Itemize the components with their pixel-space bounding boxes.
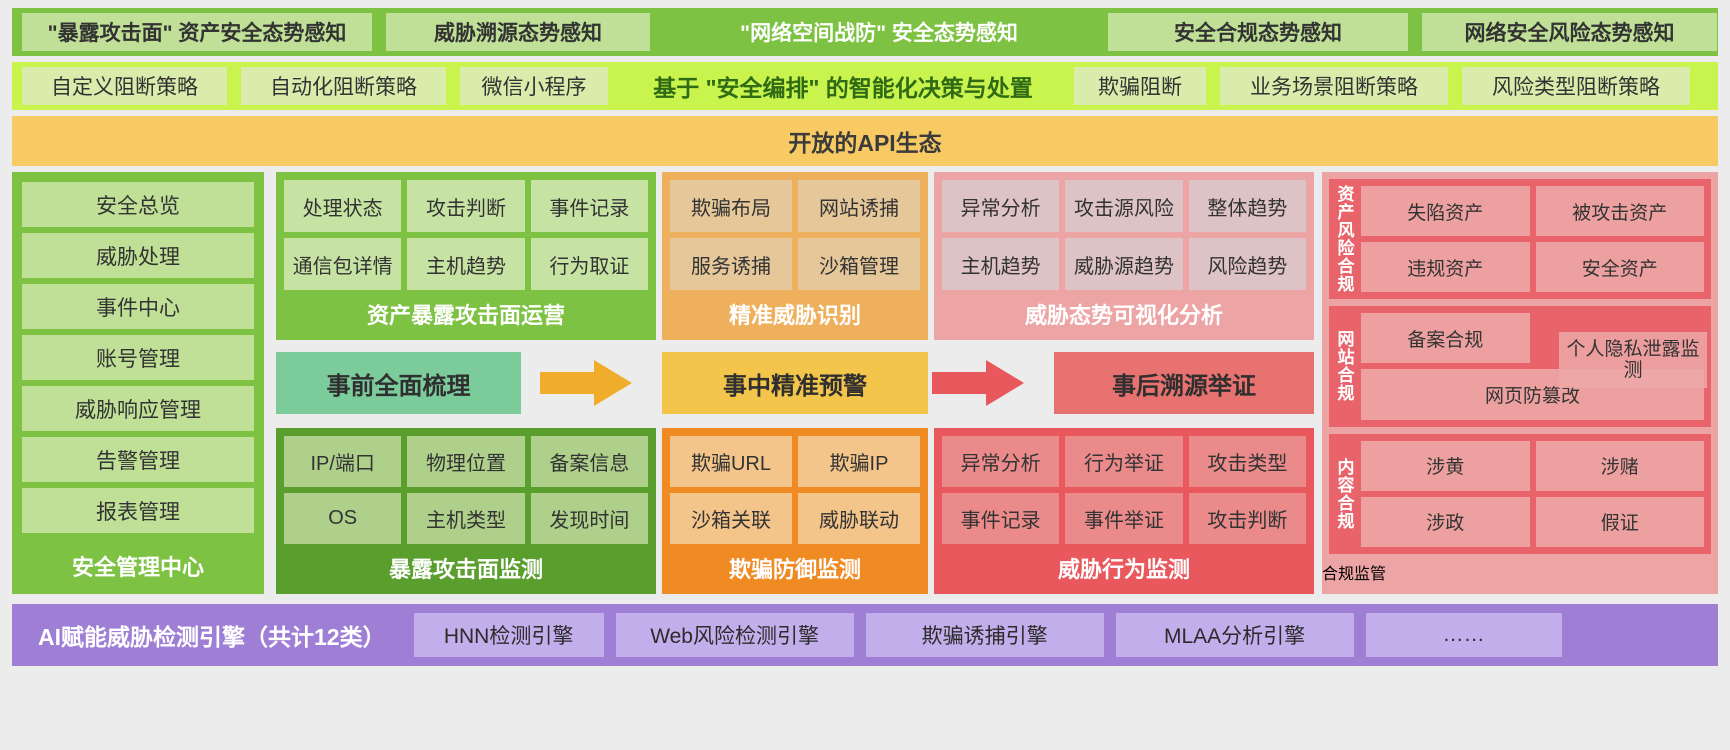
- threat-behavior-cell-4[interactable]: 事件举证: [1065, 493, 1182, 544]
- website-compliance-group: 网站合规 备案合规 网页防篡改 个人隐私泄露监测: [1329, 306, 1711, 426]
- sidebar-item-1-label: 威胁处理: [96, 241, 180, 271]
- sidebar-item-0-label: 安全总览: [96, 190, 180, 220]
- threat-behavior-cell-0[interactable]: 异常分析: [942, 436, 1059, 487]
- asset-risk-cell-1[interactable]: 被攻击资产: [1536, 186, 1705, 236]
- row2-item-5[interactable]: 业务场景阻断策略: [1220, 67, 1448, 105]
- stage-after-box: 事后溯源举证: [1054, 352, 1314, 414]
- exposure-monitor-cell-4[interactable]: 主机类型: [407, 493, 524, 544]
- asset-risk-compliance-grid: 失陷资产 被攻击资产 违规资产 安全资产: [1359, 179, 1711, 299]
- row1-item-4[interactable]: 网络安全风险态势感知: [1422, 13, 1717, 51]
- threat-viz-cell-3[interactable]: 主机趋势: [942, 238, 1059, 290]
- precise-threat-cell-2[interactable]: 服务诱捕: [670, 238, 792, 290]
- precise-threat-identification-panel: 欺骗布局 网站诱捕 服务诱捕 沙箱管理 精准威胁识别: [662, 172, 928, 340]
- precise-threat-cell-1[interactable]: 网站诱捕: [798, 180, 920, 232]
- threat-behavior-cell-3[interactable]: 事件记录: [942, 493, 1059, 544]
- asset-exposure-ops-panel: 处理状态 攻击判断 事件记录 通信包详情 主机趋势 行为取证 资产暴露攻击面运营: [276, 172, 656, 340]
- stage-before-label: 事前全面梳理: [327, 366, 471, 401]
- sidebar-item-2-label: 事件中心: [96, 292, 180, 322]
- threat-viz-grid: 异常分析 攻击源风险 整体趋势 主机趋势 威胁源趋势 风险趋势: [934, 172, 1314, 298]
- threat-behavior-cell-1[interactable]: 行为举证: [1065, 436, 1182, 487]
- engine-chip-hnn[interactable]: HNN检测引擎: [414, 613, 604, 657]
- row1-item-3-label: 安全合规态势感知: [1174, 17, 1342, 47]
- stage-during-box: 事中精准预警: [662, 352, 928, 414]
- engine-chip-more[interactable]: ……: [1366, 613, 1562, 657]
- row1-item-1-label: 威胁溯源态势感知: [434, 17, 602, 47]
- asset-exposure-cell-5[interactable]: 行为取证: [531, 238, 648, 290]
- content-compliance-cell-1[interactable]: 涉赌: [1536, 441, 1705, 491]
- sidebar-item-report-management[interactable]: 报表管理: [22, 488, 254, 533]
- row1-item-1[interactable]: 威胁溯源态势感知: [386, 13, 650, 51]
- website-compliance-cell-privacy-leak[interactable]: 个人隐私泄露监测: [1559, 332, 1707, 388]
- asset-exposure-cell-0[interactable]: 处理状态: [284, 180, 401, 232]
- content-compliance-cell-3[interactable]: 假证: [1536, 497, 1705, 547]
- arrow-right-icon-2: [932, 360, 1024, 406]
- row2-item-6[interactable]: 风险类型阻断策略: [1462, 67, 1690, 105]
- threat-behavior-monitoring-title: 威胁行为监测: [934, 552, 1314, 594]
- sidebar-item-event-center[interactable]: 事件中心: [22, 284, 254, 329]
- website-compliance-side-label: 网站合规: [1329, 306, 1359, 426]
- asset-risk-compliance-side-label: 资产风险合规: [1329, 179, 1359, 299]
- compliance-supervision-title: 合规监管: [1322, 554, 1718, 594]
- row2-item-5-label: 业务场景阻断策略: [1250, 71, 1418, 101]
- stage-during-label: 事中精准预警: [723, 366, 867, 401]
- asset-exposure-cell-4[interactable]: 主机趋势: [407, 238, 524, 290]
- deception-monitor-cell-3[interactable]: 威胁联动: [798, 493, 920, 544]
- open-api-ecosystem-banner: 开放的API生态: [12, 116, 1718, 166]
- sidebar-item-6-label: 报表管理: [96, 496, 180, 526]
- sidebar-panel-title: 安全管理中心: [22, 550, 254, 594]
- row2-item-6-label: 风险类型阻断策略: [1492, 71, 1660, 101]
- threat-behavior-monitoring-panel: 异常分析 行为举证 攻击类型 事件记录 事件举证 攻击判断 威胁行为监测: [934, 428, 1314, 594]
- threat-viz-cell-2[interactable]: 整体趋势: [1189, 180, 1306, 232]
- deception-defense-monitoring-title: 欺骗防御监测: [662, 552, 928, 594]
- sidebar-item-4-label: 威胁响应管理: [75, 394, 201, 424]
- row1-item-0-label: "暴露攻击面" 资产安全态势感知: [48, 17, 347, 47]
- row1-item-0[interactable]: "暴露攻击面" 资产安全态势感知: [22, 13, 372, 51]
- content-compliance-grid: 涉黄 涉赌 涉政 假证: [1359, 434, 1711, 554]
- sidebar-item-security-overview[interactable]: 安全总览: [22, 182, 254, 227]
- content-compliance-group: 内容合规 涉黄 涉赌 涉政 假证: [1329, 434, 1711, 554]
- asset-risk-compliance-group: 资产风险合规 失陷资产 被攻击资产 违规资产 安全资产: [1329, 179, 1711, 299]
- asset-risk-cell-3[interactable]: 安全资产: [1536, 242, 1705, 292]
- open-api-ecosystem-label: 开放的API生态: [788, 124, 941, 158]
- row2-item-3-orchestration: 基于 "安全编排" 的智能化决策与处置: [618, 67, 1068, 105]
- threat-behavior-grid: 异常分析 行为举证 攻击类型 事件记录 事件举证 攻击判断: [934, 428, 1314, 552]
- exposure-monitor-cell-1[interactable]: 物理位置: [407, 436, 524, 487]
- content-compliance-cell-2[interactable]: 涉政: [1361, 497, 1530, 547]
- engine-chip-mlaa[interactable]: MLAA分析引擎: [1116, 613, 1354, 657]
- deception-defense-monitoring-panel: 欺骗URL 欺骗IP 沙箱关联 威胁联动 欺骗防御监测: [662, 428, 928, 594]
- content-compliance-side-label: 内容合规: [1329, 434, 1359, 554]
- row2-item-4[interactable]: 欺骗阻断: [1074, 67, 1206, 105]
- row1-item-2[interactable]: "网络空间战防" 安全态势感知: [664, 13, 1094, 51]
- row2-item-0[interactable]: 自定义阻断策略: [22, 67, 227, 105]
- threat-visualization-analysis-panel: 异常分析 攻击源风险 整体趋势 主机趋势 威胁源趋势 风险趋势 威胁态势可视化分…: [934, 172, 1314, 340]
- arrow-right-icon-1: [540, 360, 632, 406]
- security-management-center-panel: 安全总览 威胁处理 事件中心 账号管理 威胁响应管理 告警管理 报表管理 安全管…: [12, 172, 264, 594]
- row2-item-4-label: 欺骗阻断: [1098, 71, 1182, 101]
- asset-risk-cell-0[interactable]: 失陷资产: [1361, 186, 1530, 236]
- sidebar-item-threat-response-management[interactable]: 威胁响应管理: [22, 386, 254, 431]
- threat-viz-cell-1[interactable]: 攻击源风险: [1065, 180, 1182, 232]
- sidebar-item-account-management[interactable]: 账号管理: [22, 335, 254, 380]
- sidebar-item-threat-handling[interactable]: 威胁处理: [22, 233, 254, 278]
- architecture-diagram: "暴露攻击面" 资产安全态势感知 威胁溯源态势感知 "网络空间战防" 安全态势感…: [0, 0, 1730, 750]
- exposure-surface-monitoring-panel: IP/端口 物理位置 备案信息 OS 主机类型 发现时间 暴露攻击面监测: [276, 428, 656, 594]
- stage-after-label: 事后溯源举证: [1112, 366, 1256, 401]
- deception-monitor-cell-2[interactable]: 沙箱关联: [670, 493, 792, 544]
- precise-threat-grid: 欺骗布局 网站诱捕 服务诱捕 沙箱管理: [662, 172, 928, 298]
- row1-item-3[interactable]: 安全合规态势感知: [1108, 13, 1408, 51]
- threat-viz-cell-4[interactable]: 威胁源趋势: [1065, 238, 1182, 290]
- website-compliance-cell-filing[interactable]: 备案合规: [1361, 313, 1530, 363]
- ai-engine-footer-title: AI赋能威胁检测引擎（共计12类）: [22, 618, 402, 652]
- precise-threat-cell-0[interactable]: 欺骗布局: [670, 180, 792, 232]
- row2-item-1-label: 自动化阻断策略: [270, 71, 417, 101]
- threat-behavior-cell-5[interactable]: 攻击判断: [1189, 493, 1306, 544]
- asset-exposure-cell-2[interactable]: 事件记录: [531, 180, 648, 232]
- threat-viz-cell-0[interactable]: 异常分析: [942, 180, 1059, 232]
- asset-risk-cell-2[interactable]: 违规资产: [1361, 242, 1530, 292]
- engine-chip-deception[interactable]: 欺骗诱捕引擎: [866, 613, 1104, 657]
- exposure-monitor-cell-2[interactable]: 备案信息: [531, 436, 648, 487]
- stage-before-box: 事前全面梳理: [276, 352, 521, 414]
- exposure-monitor-cell-0[interactable]: IP/端口: [284, 436, 401, 487]
- row1-item-4-label: 网络安全风险态势感知: [1465, 17, 1675, 47]
- row2-item-2[interactable]: 微信小程序: [460, 67, 608, 105]
- situational-awareness-row: "暴露攻击面" 资产安全态势感知 威胁溯源态势感知 "网络空间战防" 安全态势感…: [12, 8, 1718, 56]
- precise-threat-identification-title: 精准威胁识别: [662, 298, 928, 340]
- sidebar-item-3-label: 账号管理: [96, 343, 180, 373]
- exposure-monitor-grid: IP/端口 物理位置 备案信息 OS 主机类型 发现时间: [276, 428, 656, 552]
- exposure-surface-monitoring-title: 暴露攻击面监测: [276, 552, 656, 594]
- threat-viz-cell-5[interactable]: 风险趋势: [1189, 238, 1306, 290]
- exposure-monitor-cell-3[interactable]: OS: [284, 493, 401, 544]
- content-compliance-cell-0[interactable]: 涉黄: [1361, 441, 1530, 491]
- row2-item-0-label: 自定义阻断策略: [51, 71, 198, 101]
- blocking-policy-row: 自定义阻断策略 自动化阻断策略 微信小程序 基于 "安全编排" 的智能化决策与处…: [12, 62, 1718, 110]
- engine-chip-web-risk[interactable]: Web风险检测引擎: [616, 613, 854, 657]
- sidebar-item-alarm-management[interactable]: 告警管理: [22, 437, 254, 482]
- threat-visualization-analysis-title: 威胁态势可视化分析: [934, 298, 1314, 340]
- exposure-monitor-cell-5[interactable]: 发现时间: [531, 493, 648, 544]
- asset-exposure-ops-grid: 处理状态 攻击判断 事件记录 通信包详情 主机趋势 行为取证: [276, 172, 656, 298]
- asset-exposure-cell-3[interactable]: 通信包详情: [284, 238, 401, 290]
- deception-monitor-cell-0[interactable]: 欺骗URL: [670, 436, 792, 487]
- compliance-supervision-panel: 资产风险合规 失陷资产 被攻击资产 违规资产 安全资产 网站合规 备案合规 网页…: [1322, 172, 1718, 594]
- deception-monitor-cell-1[interactable]: 欺骗IP: [798, 436, 920, 487]
- ai-engine-footer: AI赋能威胁检测引擎（共计12类） HNN检测引擎 Web风险检测引擎 欺骗诱捕…: [12, 604, 1718, 666]
- row2-item-2-label: 微信小程序: [482, 71, 587, 101]
- asset-exposure-ops-title: 资产暴露攻击面运营: [276, 298, 656, 340]
- sidebar-item-5-label: 告警管理: [96, 445, 180, 475]
- row2-item-1[interactable]: 自动化阻断策略: [241, 67, 446, 105]
- deception-monitor-grid: 欺骗URL 欺骗IP 沙箱关联 威胁联动: [662, 428, 928, 552]
- row2-item-3-label: 基于 "安全编排" 的智能化决策与处置: [653, 69, 1033, 103]
- row1-item-2-label: "网络空间战防" 安全态势感知: [740, 17, 1018, 47]
- precise-threat-cell-3[interactable]: 沙箱管理: [798, 238, 920, 290]
- asset-exposure-cell-1[interactable]: 攻击判断: [407, 180, 524, 232]
- threat-behavior-cell-2[interactable]: 攻击类型: [1189, 436, 1306, 487]
